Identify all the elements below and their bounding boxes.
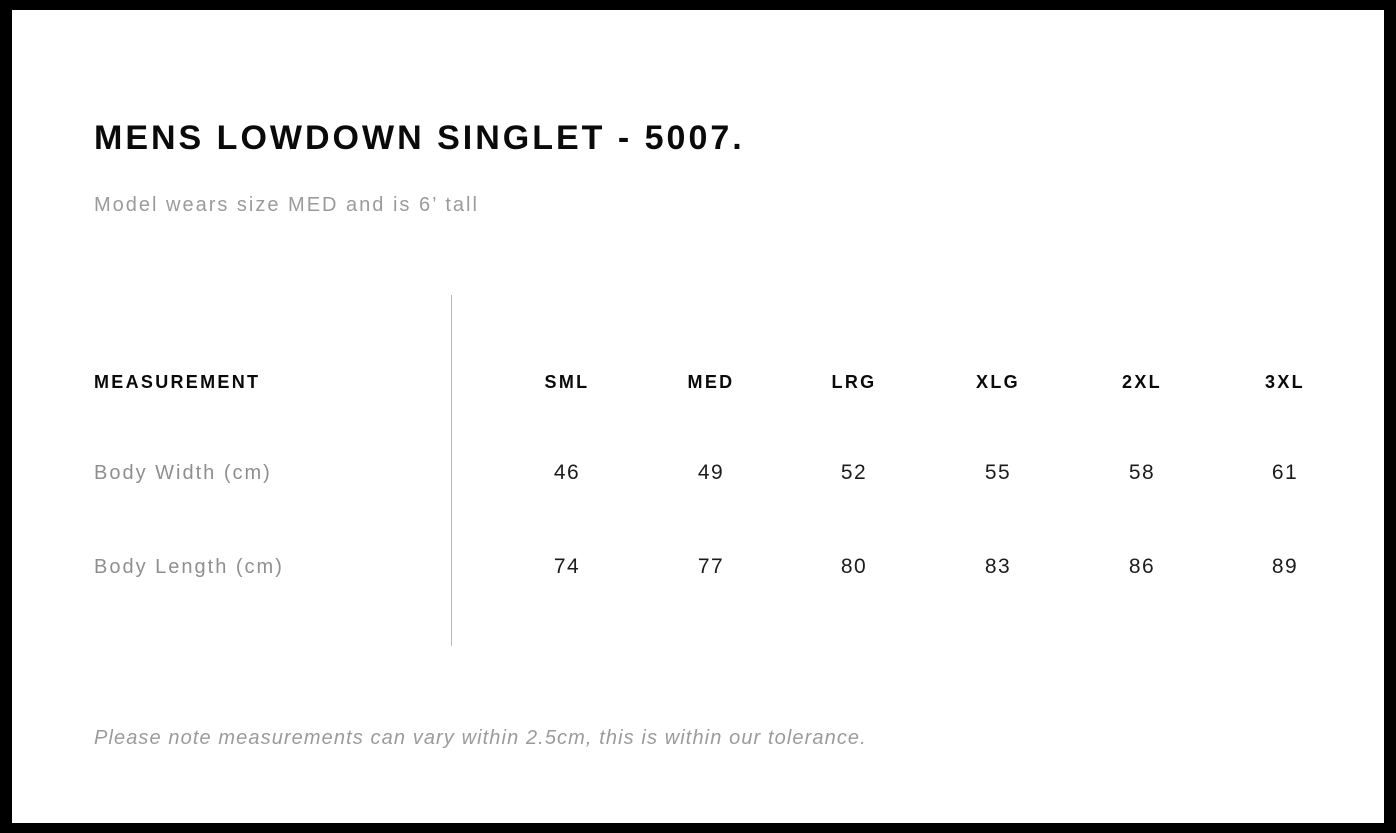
size-chart-table: MEASUREMENT SML MED LRG XLG 2XL 3XL Body… (12, 10, 1384, 823)
column-header-xlg: XLG (938, 362, 1058, 402)
cell-body-length-xlg: 83 (938, 547, 1058, 587)
cell-body-width-3xl: 61 (1225, 453, 1345, 493)
column-header-3xl: 3XL (1225, 362, 1345, 402)
row-label-body-width: Body Width (cm) (94, 453, 272, 493)
cell-body-length-lrg: 80 (794, 547, 914, 587)
cell-body-width-xlg: 55 (938, 453, 1058, 493)
table-header-row: MEASUREMENT SML MED LRG XLG 2XL 3XL (12, 362, 1384, 402)
cell-body-length-2xl: 86 (1082, 547, 1202, 587)
column-header-measurement: MEASUREMENT (94, 362, 260, 402)
cell-body-width-sml: 46 (507, 453, 627, 493)
cell-body-width-lrg: 52 (794, 453, 914, 493)
column-header-lrg: LRG (794, 362, 914, 402)
cell-body-width-2xl: 58 (1082, 453, 1202, 493)
column-header-med: MED (651, 362, 771, 402)
size-chart-card: MENS LOWDOWN SINGLET - 5007. Model wears… (12, 10, 1384, 823)
row-label-body-length: Body Length (cm) (94, 547, 284, 587)
page-border: MENS LOWDOWN SINGLET - 5007. Model wears… (0, 0, 1396, 833)
cell-body-width-med: 49 (651, 453, 771, 493)
column-header-sml: SML (507, 362, 627, 402)
cell-body-length-med: 77 (651, 547, 771, 587)
table-row: Body Width (cm) 46 49 52 55 58 61 (12, 453, 1384, 493)
table-row: Body Length (cm) 74 77 80 83 86 89 (12, 547, 1384, 587)
cell-body-length-3xl: 89 (1225, 547, 1345, 587)
column-header-2xl: 2XL (1082, 362, 1202, 402)
cell-body-length-sml: 74 (507, 547, 627, 587)
tolerance-footnote: Please note measurements can vary within… (94, 723, 867, 753)
